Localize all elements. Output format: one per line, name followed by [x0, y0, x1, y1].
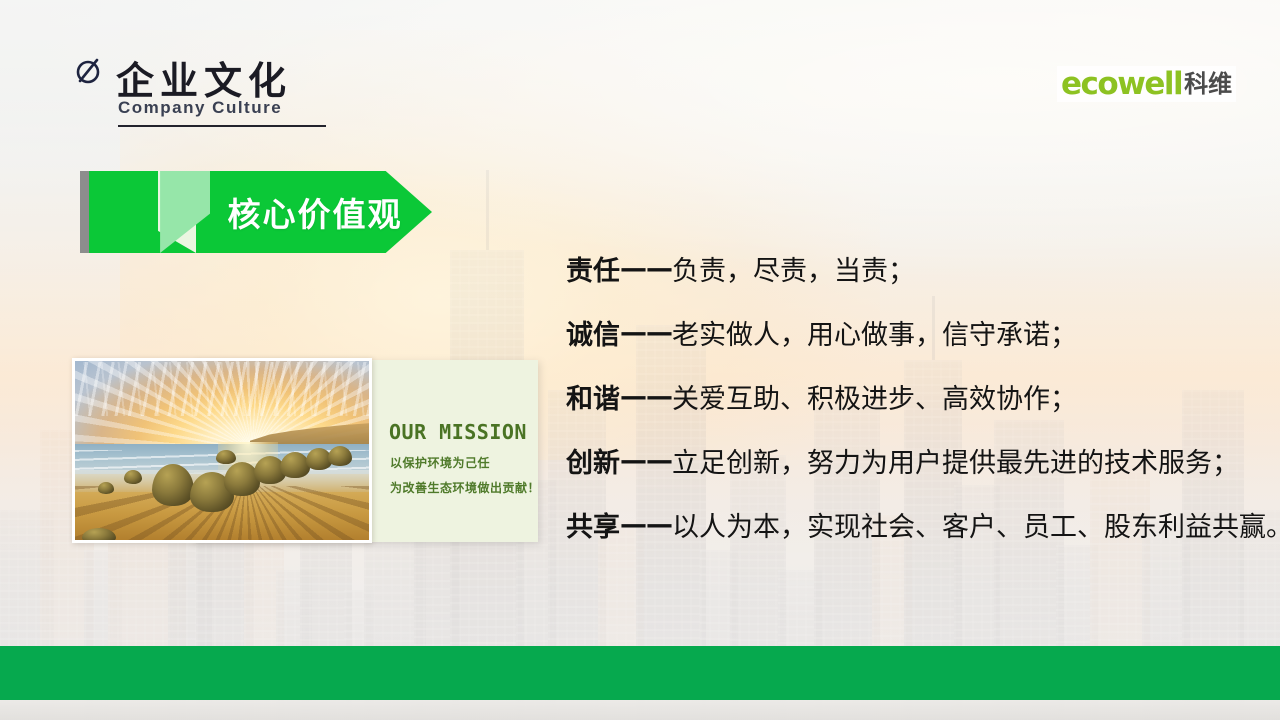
sunset-beach-photo: [72, 358, 372, 543]
banner-gray-tab: [80, 171, 89, 253]
value-keyword: 责任: [566, 249, 620, 288]
value-keyword: 共享: [566, 505, 620, 544]
page-title-en: Company Culture: [118, 98, 282, 118]
section-banner: 核心价值观: [80, 171, 432, 253]
banner-label: 核心价值观: [210, 171, 420, 253]
value-keyword: 创新: [566, 441, 620, 480]
slashed-circle-icon: [74, 56, 104, 86]
value-dash: ——: [620, 317, 672, 348]
value-dash: ——: [620, 445, 672, 476]
brand-logo-cn: 科维: [1184, 72, 1232, 96]
value-keyword: 和谐: [566, 377, 620, 416]
value-row: 创新 —— 立足创新，努力为用户提供最先进的技术服务；: [566, 428, 1266, 492]
brand-logo: ecowell 科维: [1057, 66, 1236, 102]
value-body: 负责，尽责，当责；: [672, 249, 915, 288]
mission-line-1: 以保护环境为己任: [390, 454, 490, 471]
value-dash: ——: [620, 253, 672, 284]
value-dash: ——: [620, 381, 672, 412]
value-row: 和谐 —— 关爱互助、积极进步、高效协作；: [566, 364, 1266, 428]
brand-logo-wordmark: ecowell: [1061, 69, 1182, 100]
slide-canvas: 企业文化 Company Culture ecowell 科维 核心价值观 OU…: [0, 0, 1280, 720]
value-body: 关爱互助、积极进步、高效协作；: [672, 377, 1077, 416]
value-dash: ——: [620, 509, 672, 540]
footer-strip: [0, 700, 1280, 720]
core-values-list: 责任 —— 负责，尽责，当责； 诚信 —— 老实做人，用心做事，信守承诺； 和谐…: [566, 236, 1266, 556]
value-row: 诚信 —— 老实做人，用心做事，信守承诺；: [566, 300, 1266, 364]
title-divider: [118, 125, 326, 127]
value-body: 立足创新，努力为用户提供最先进的技术服务；: [672, 441, 1239, 480]
photo-frame: [72, 358, 372, 543]
mission-line-2: 为改善生态环境做出贡献！: [390, 479, 540, 496]
value-keyword: 诚信: [566, 313, 620, 352]
value-row: 责任 —— 负责，尽责，当责；: [566, 236, 1266, 300]
footer-accent-bar: [0, 646, 1280, 700]
page-title-cn: 企业文化: [116, 50, 292, 105]
mission-title: OUR MISSION: [389, 420, 527, 444]
value-body: 以人为本，实现社会、客户、员工、股东利益共赢。: [672, 505, 1280, 544]
value-body: 老实做人，用心做事，信守承诺；: [672, 313, 1077, 352]
value-row: 共享 —— 以人为本，实现社会、客户、员工、股东利益共赢。: [566, 492, 1266, 556]
